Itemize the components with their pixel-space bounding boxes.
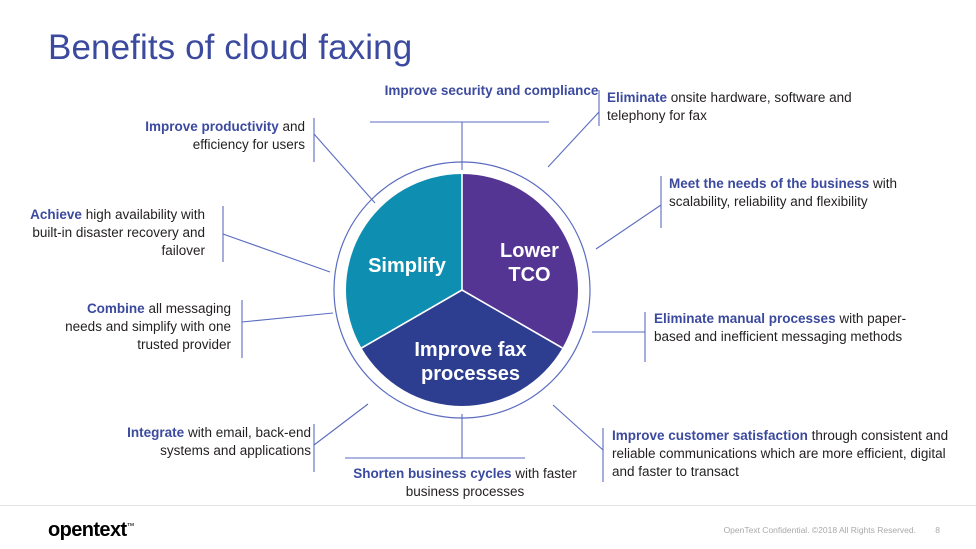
callout-shorten-business-cycles: Shorten business cycles with faster busi… <box>340 465 590 501</box>
callout-highlight: Combine <box>87 301 145 316</box>
callout-meet-needs-business: Meet the needs of the business with scal… <box>669 175 931 211</box>
callout-eliminate-onsite-hardware: Eliminate onsite hardware, software and … <box>607 89 907 125</box>
leader-productivity-stem <box>314 134 375 203</box>
callout-highlight: Improve customer satisfaction <box>612 428 808 443</box>
page-number: 8 <box>935 525 940 535</box>
callout-highlight: Improve productivity <box>145 119 279 134</box>
slide-footer: opentext™ OpenText Confidential. ©2018 A… <box>0 505 976 549</box>
callout-highlight: Improve security and compliance <box>385 83 599 98</box>
callout-improve-customer-satisfaction: Improve customer satisfaction through co… <box>612 427 957 482</box>
callout-combine-messaging: Combine all messaging needs and simplify… <box>50 300 231 355</box>
trademark-symbol: ™ <box>127 521 135 530</box>
copyright-notice: OpenText Confidential. ©2018 All Rights … <box>724 525 916 535</box>
logo-wordmark: opentext <box>48 519 127 541</box>
opentext-logo: opentext™ <box>48 519 135 542</box>
callout-highlight: Eliminate manual processes <box>654 311 836 326</box>
callout-highlight: Meet the needs of the business <box>669 176 869 191</box>
callout-highlight: Shorten business cycles <box>353 466 511 481</box>
callout-improve-security: Improve security and compliance <box>364 82 619 100</box>
benefits-wheel-diagram: Simplify Lower TCO Improve fax processes… <box>0 0 976 520</box>
callout-achieve-high-availability: Achieve high availability with built-in … <box>27 206 205 261</box>
leader-customer-stem <box>553 405 603 450</box>
callout-integrate-with-email: Integrate with email, back-end systems a… <box>80 424 311 460</box>
callout-eliminate-manual-processes: Eliminate manual processes with paper-ba… <box>654 310 932 346</box>
pie-label-improve-fax: Improve fax processes <box>388 338 553 386</box>
callout-highlight: Achieve <box>30 207 82 222</box>
callout-highlight: Eliminate <box>607 90 667 105</box>
footer-divider <box>0 505 976 506</box>
leader-meet-stem <box>596 205 661 249</box>
leader-combine-stem <box>242 313 333 322</box>
callout-improve-productivity: Improve productivity and efficiency for … <box>102 118 305 154</box>
pie-label-lower-tco: Lower TCO <box>478 239 581 287</box>
leader-integrate-stem <box>314 404 368 445</box>
pie-label-simplify: Simplify <box>352 254 462 278</box>
leader-achieve-stem <box>223 234 330 272</box>
callout-highlight: Integrate <box>127 425 184 440</box>
leader-eliminate-stem <box>548 112 599 167</box>
